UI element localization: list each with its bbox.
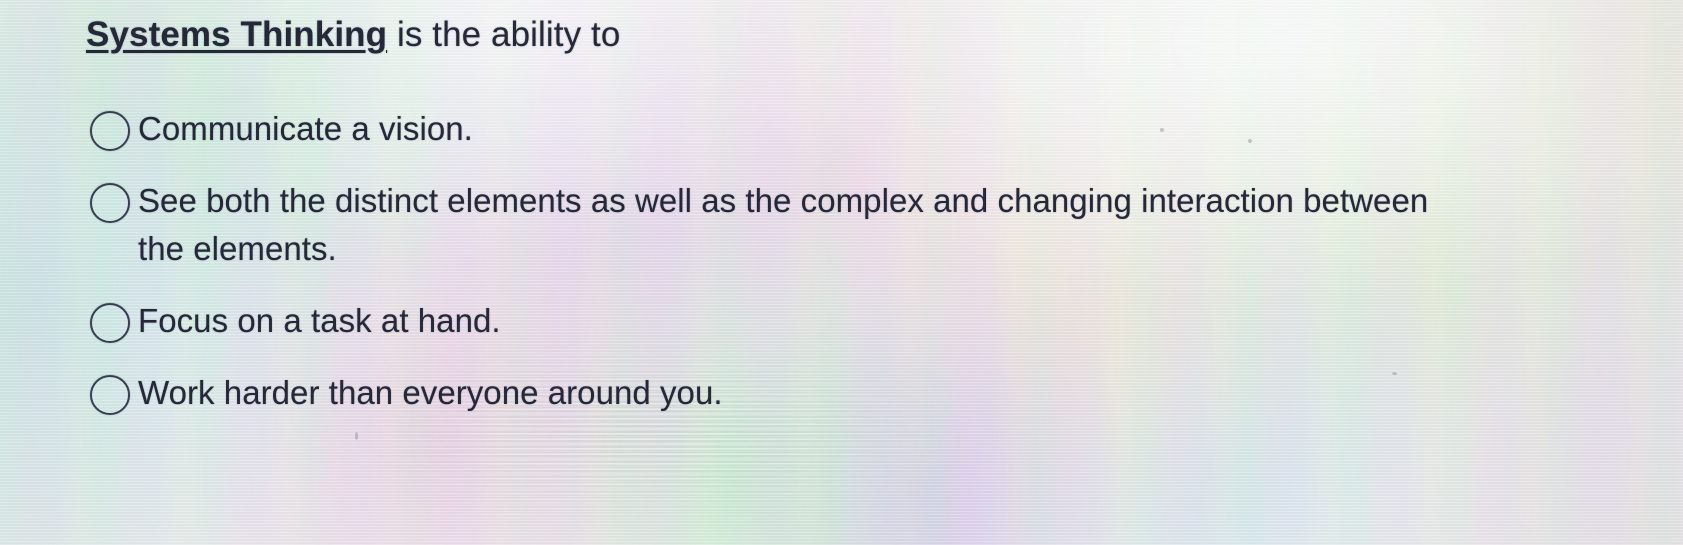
- radio-circle-unchecked-icon: [90, 303, 130, 343]
- radio-button-icon[interactable]: [86, 299, 130, 343]
- quiz-question-content: Systems Thinking is the ability to Commu…: [0, 0, 1683, 545]
- radio-button-icon[interactable]: [86, 107, 130, 151]
- radio-button-icon[interactable]: [86, 179, 130, 223]
- dust-speck: [1248, 139, 1252, 143]
- answer-option-c-label: Focus on a task at hand.: [138, 297, 501, 345]
- answer-options-list: Communicate a vision. See both the disti…: [86, 105, 1506, 441]
- radio-button-icon[interactable]: [86, 371, 130, 415]
- dust-speck: [1160, 128, 1164, 132]
- question-stem-remainder: is the ability to: [387, 15, 620, 54]
- radio-circle-unchecked-icon: [90, 111, 130, 151]
- answer-option-a[interactable]: Communicate a vision.: [86, 105, 1506, 153]
- dust-speck: [355, 432, 358, 440]
- answer-option-c[interactable]: Focus on a task at hand.: [86, 297, 1506, 345]
- dust-speck: [1392, 372, 1397, 375]
- answer-option-d-label: Work harder than everyone around you.: [138, 369, 723, 417]
- radio-circle-unchecked-icon: [90, 183, 130, 223]
- radio-circle-unchecked-icon: [90, 375, 130, 415]
- question-stem-term: Systems Thinking: [86, 15, 387, 54]
- answer-option-a-label: Communicate a vision.: [138, 105, 473, 153]
- answer-option-b[interactable]: See both the distinct elements as well a…: [86, 177, 1506, 273]
- question-stem: Systems Thinking is the ability to: [86, 14, 620, 55]
- answer-option-b-label: See both the distinct elements as well a…: [138, 177, 1458, 273]
- answer-option-d[interactable]: Work harder than everyone around you.: [86, 369, 1506, 417]
- screen-photo-surface: Systems Thinking is the ability to Commu…: [0, 0, 1683, 545]
